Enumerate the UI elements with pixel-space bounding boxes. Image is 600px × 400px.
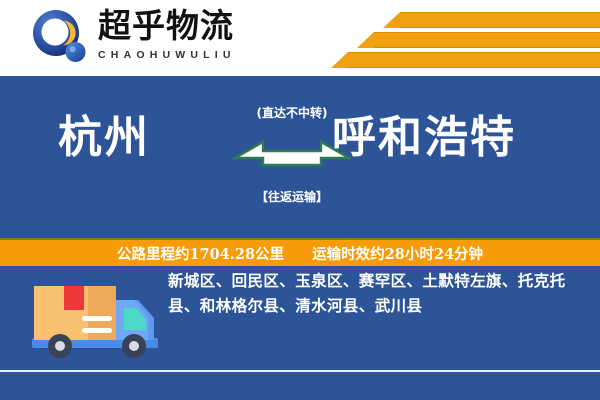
brand-logo: 超乎物流 CHAOHUWULIU <box>30 6 280 70</box>
stripe-2 <box>374 32 600 48</box>
brand-name-en: CHAOHUWULIU <box>98 48 288 62</box>
info-bar: 公路里程约1704.28公里 运输时效约28小时24分钟 <box>0 238 600 266</box>
origin-city: 杭州 <box>58 110 150 166</box>
district-list: 新城区、回民区、玉泉区、赛罕区、土默特左旗、托克托县、和林格尔县、清水河县、武川… <box>168 268 588 318</box>
coverage-section: 新城区、回民区、玉泉区、赛罕区、土默特左旗、托克托县、和林格尔县、清水河县、武川… <box>0 264 600 371</box>
decorative-stripes <box>340 8 600 68</box>
banner-footer <box>0 372 600 400</box>
stripe-3 <box>348 52 600 68</box>
delivery-truck-icon <box>26 272 166 367</box>
brand-name-cn: 超乎物流 <box>98 6 288 46</box>
brand-text: 超乎物流 CHAOHUWULIU <box>98 6 288 68</box>
round-trip-note: 【往返运输】 <box>232 188 352 205</box>
circle-crescent-logo-icon <box>30 8 88 66</box>
banner-body: 杭州 (直达不中转) 【往返运输】 呼和浩特 公路里程约1704.28公里 运输… <box>0 76 600 400</box>
banner-header: 超乎物流 CHAOHUWULIU <box>0 0 600 76</box>
info-bar-content: 公路里程约1704.28公里 运输时效约28小时24分钟 <box>117 243 483 264</box>
logistics-banner: 超乎物流 CHAOHUWULIU 杭州 (直达不中转) 【往返运输】 <box>0 0 600 400</box>
distance-text: 公路里程约1704.28公里 <box>117 246 284 263</box>
destination-city: 呼和浩特 <box>332 110 516 166</box>
route-section: 杭州 (直达不中转) 【往返运输】 呼和浩特 <box>0 76 600 238</box>
duration-text: 运输时效约28小时24分钟 <box>312 246 483 263</box>
stripe-1 <box>400 12 600 28</box>
